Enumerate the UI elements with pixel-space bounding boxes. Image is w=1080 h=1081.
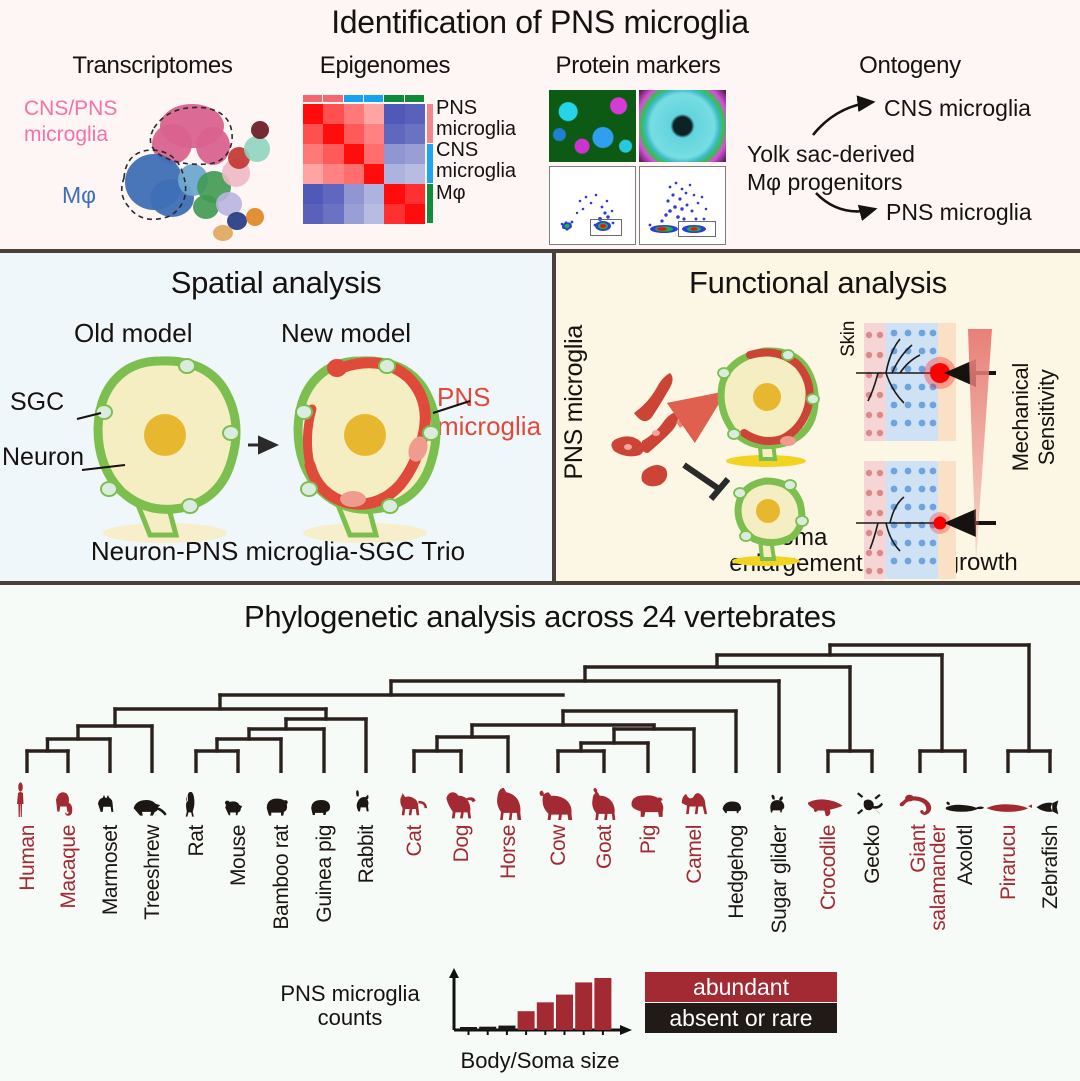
heatmap-cell bbox=[344, 204, 364, 224]
rabbit-icon bbox=[350, 790, 382, 825]
horse-icon bbox=[487, 786, 529, 825]
heatmap-cell bbox=[405, 144, 425, 164]
heatmap-cell bbox=[364, 164, 384, 184]
legend-bar bbox=[575, 982, 592, 1030]
macaque-icon bbox=[51, 788, 85, 825]
heatmap-cell bbox=[364, 184, 384, 204]
heatmap-grid bbox=[303, 104, 425, 224]
cow-icon bbox=[535, 786, 581, 825]
legend-bar bbox=[518, 1011, 535, 1030]
heatmap-col-annot-2 bbox=[344, 95, 363, 102]
heatmap-cell bbox=[344, 184, 364, 204]
heatmap-cell bbox=[364, 204, 384, 224]
immunofluorescence-image-neuron bbox=[639, 90, 726, 162]
legend-key-absent: absent or rare bbox=[645, 1003, 837, 1033]
bamboo-rat-icon bbox=[263, 792, 299, 825]
species-label-pirarucu: Pirarucu bbox=[997, 825, 1021, 900]
species-label-goat: Goat bbox=[593, 825, 617, 869]
heatmap-cell bbox=[364, 144, 384, 164]
heatmap-cell bbox=[384, 164, 404, 184]
gecko-icon bbox=[853, 790, 891, 825]
legend-x-axis-label: Body/Soma size bbox=[430, 1048, 650, 1074]
heatmap-cell bbox=[303, 184, 323, 204]
crocodile-icon bbox=[806, 790, 850, 825]
functional-diagram bbox=[556, 293, 1080, 613]
heatmap-cell bbox=[364, 104, 384, 124]
column-header-transcriptomes: Transcriptomes bbox=[40, 52, 265, 80]
species-label-marmoset: Marmoset bbox=[99, 825, 123, 915]
umap-scatter-plot: CNS/PNSmicroglia Mφ bbox=[20, 86, 285, 251]
heatmap-col-annot-3 bbox=[364, 95, 383, 102]
heatmap-cell bbox=[405, 184, 425, 204]
dog-icon bbox=[439, 788, 483, 825]
species-label-mouse: Mouse bbox=[227, 825, 251, 886]
legend-bar bbox=[537, 1002, 554, 1030]
species-label-axolotl: Axolotl bbox=[954, 825, 978, 885]
heatmap-cell bbox=[384, 184, 404, 204]
species-label-dog: Dog bbox=[450, 825, 474, 862]
panel-spatial-analysis: Spatial analysis Old model New model SGC… bbox=[0, 253, 556, 585]
rat-icon bbox=[183, 788, 209, 825]
marmoset-icon bbox=[94, 792, 126, 825]
heatmap-cell bbox=[405, 204, 425, 224]
heatmap-cell bbox=[384, 124, 404, 144]
flow-gate-2 bbox=[678, 221, 716, 237]
mouse-icon bbox=[221, 794, 255, 825]
species-label-crocodile: Crocodile bbox=[817, 825, 841, 910]
species-label-treeshrew: Treeshrew bbox=[141, 825, 165, 920]
species-label-human: Human bbox=[16, 825, 40, 891]
column-header-protein-markers: Protein markers bbox=[518, 52, 758, 80]
species-label-cat: Cat bbox=[403, 825, 427, 856]
panel-phylogenetic-analysis: Phylogenetic analysis across 24 vertebra… bbox=[0, 585, 1080, 1081]
old-model-neuron bbox=[96, 359, 239, 543]
sugar-glider-icon bbox=[764, 794, 794, 825]
legend-bar bbox=[594, 978, 611, 1030]
zebrafish-icon bbox=[1032, 798, 1068, 825]
heatmap-row-label-cns: CNSmicroglia bbox=[436, 140, 536, 182]
heatmap-cell bbox=[323, 164, 343, 184]
heatmap-row-labels: PNSmicroglia CNSmicroglia Mφ bbox=[436, 98, 536, 204]
species-label-zebrafish: Zebrafish bbox=[1039, 825, 1063, 909]
species-label-camel: Camel bbox=[683, 825, 707, 884]
panel-functional-analysis: Functional analysis PNS microglia Skin M… bbox=[556, 253, 1080, 585]
pig-icon bbox=[626, 790, 670, 825]
heatmap-cell bbox=[384, 104, 404, 124]
microglia-cells bbox=[611, 373, 678, 486]
ontogeny-diagram: Yolk sac-derivedMφ progenitors CNS micro… bbox=[740, 88, 1080, 248]
flow-cytometry-plot-1 bbox=[549, 166, 636, 245]
heatmap-cell bbox=[344, 164, 364, 184]
protein-markers-images bbox=[549, 90, 731, 245]
species-label-cow: Cow bbox=[547, 825, 571, 866]
species-label-macaque: Macaque bbox=[57, 825, 81, 909]
species-label-row: HumanMacaqueMarmosetTreeshrewRatMouseBam… bbox=[0, 825, 1080, 965]
heatmap-cell bbox=[405, 104, 425, 124]
umap-clusters bbox=[20, 86, 285, 251]
heatmap-column-annotation-bar bbox=[303, 95, 425, 102]
species-label-bamboo-rat: Bamboo rat bbox=[270, 825, 294, 930]
flow-gate-1 bbox=[590, 219, 622, 236]
heatmap-col-annot-0 bbox=[303, 95, 322, 102]
column-header-epigenomes: Epigenomes bbox=[290, 52, 480, 80]
species-label-pig: Pig bbox=[637, 825, 661, 854]
species-label-hedgehog: Hedgehog bbox=[725, 825, 749, 919]
heatmap-cell bbox=[344, 124, 364, 144]
heatmap-cell bbox=[303, 104, 323, 124]
species-label-gecko: Gecko bbox=[861, 825, 885, 884]
new-model-neuron bbox=[296, 359, 439, 543]
heatmap-cell bbox=[384, 204, 404, 224]
heatmap-cell bbox=[323, 104, 343, 124]
legend-key-abundant: abundant bbox=[645, 972, 837, 1002]
heatmap-cell bbox=[344, 144, 364, 164]
heatmap-row-annot-1 bbox=[427, 144, 433, 183]
legend-bar bbox=[460, 1027, 477, 1030]
heatmap-row-annot-0 bbox=[427, 104, 433, 143]
heatmap-cell bbox=[303, 144, 323, 164]
legend-bar bbox=[498, 1026, 515, 1030]
human-icon bbox=[15, 782, 39, 825]
panel-title-phylogeny: Phylogenetic analysis across 24 vertebra… bbox=[0, 599, 1080, 635]
small-neuron bbox=[732, 480, 808, 566]
heatmap-row-annotation-bar bbox=[427, 104, 433, 224]
heatmap-cell bbox=[323, 184, 343, 204]
giant-salamander-icon bbox=[899, 788, 941, 825]
heatmap-cell bbox=[303, 164, 323, 184]
heatmap-col-annot-1 bbox=[323, 95, 342, 102]
heatmap-cell bbox=[323, 144, 343, 164]
immunofluorescence-image-tissue bbox=[549, 90, 636, 162]
pirarucu-icon bbox=[984, 798, 1032, 825]
heatmap-cell bbox=[344, 104, 364, 124]
heatmap-cell bbox=[303, 124, 323, 144]
species-icon-row bbox=[0, 765, 1080, 825]
species-label-sugar-glider: Sugar glider bbox=[768, 825, 792, 933]
heatmap-cell bbox=[364, 124, 384, 144]
heatmap-row-label-pns: PNSmicroglia bbox=[436, 98, 536, 140]
species-label-giant-salamander: Giantsalamander bbox=[909, 825, 949, 931]
heatmap-cell bbox=[405, 164, 425, 184]
heatmap-row-label-macrophage: Mφ bbox=[436, 183, 536, 204]
species-label-guinea-pig: Guinea pig bbox=[313, 825, 337, 923]
species-label-rat: Rat bbox=[185, 825, 209, 856]
heatmap-col-annot-4 bbox=[384, 95, 403, 102]
heatmap-cell bbox=[303, 204, 323, 224]
enlarged-neuron bbox=[718, 350, 819, 467]
species-label-rabbit: Rabbit bbox=[355, 825, 379, 883]
legend-y-axis-label: PNS microgliacounts bbox=[265, 982, 435, 1030]
species-label-horse: Horse bbox=[497, 825, 521, 879]
legend-bar bbox=[479, 1027, 496, 1030]
heatmap-cell bbox=[405, 124, 425, 144]
phylogenetic-tree bbox=[0, 633, 1080, 773]
spatial-neuron-diagram bbox=[0, 273, 556, 573]
heatmap-col-annot-5 bbox=[405, 95, 424, 102]
epigenomes-heatmap: PNSmicroglia CNSmicroglia Mφ bbox=[303, 95, 533, 235]
ontogeny-arrows bbox=[740, 88, 1080, 248]
legend-mini-bar-chart bbox=[440, 966, 640, 1048]
phylogeny-legend: PNS microgliacounts Body/Soma size abund… bbox=[255, 960, 835, 1078]
heatmap-cell bbox=[323, 204, 343, 224]
heatmap-cell bbox=[384, 144, 404, 164]
hedgehog-icon bbox=[719, 794, 753, 825]
legend-bar bbox=[556, 995, 573, 1030]
treeshrew-icon bbox=[130, 792, 174, 825]
panel-title-identification: Identification of PNS microglia bbox=[0, 4, 1080, 41]
guinea-pig-icon bbox=[306, 793, 342, 825]
camel-icon bbox=[673, 788, 715, 825]
heatmap-row-annot-2 bbox=[427, 184, 433, 223]
goat-icon bbox=[583, 787, 625, 825]
flow-cytometry-plot-2 bbox=[639, 166, 726, 245]
column-header-ontogeny: Ontogeny bbox=[790, 52, 1030, 80]
cat-icon bbox=[393, 790, 435, 825]
axolotl-icon bbox=[942, 796, 988, 825]
panel-identification: Identification of PNS microglia Transcri… bbox=[0, 0, 1080, 253]
heatmap-cell bbox=[323, 124, 343, 144]
